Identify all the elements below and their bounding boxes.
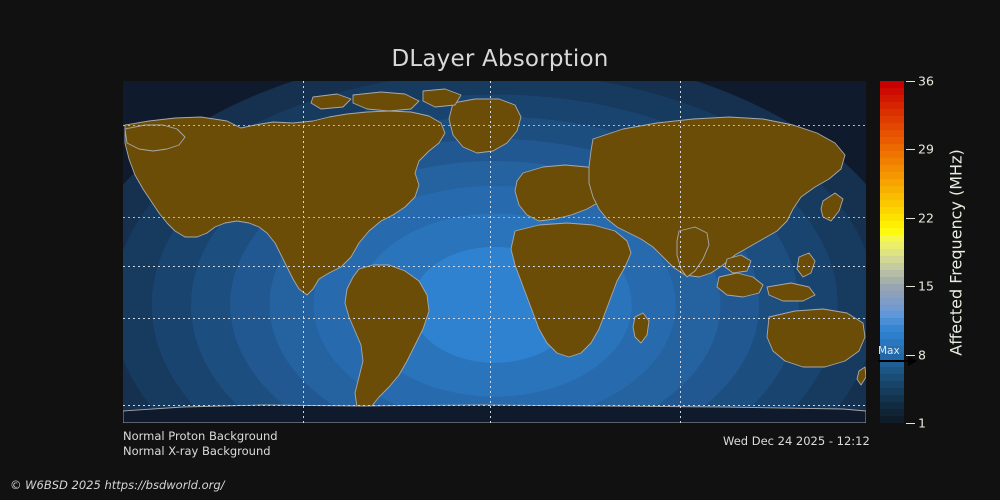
colorbar-segment [880,179,904,186]
colorbar-segment [880,151,904,158]
colorbar-segment [880,388,904,395]
colorbar-segment [880,374,904,381]
colorbar-tick-label: 36 [918,74,934,89]
colorbar-segment [880,311,904,318]
colorbar-segment [880,186,904,193]
colorbar-segment [880,235,904,242]
colorbar-segment [880,332,904,339]
colorbar-segment [880,130,904,137]
colorbar-segment [880,325,904,332]
max-marker: Max [876,345,922,367]
colorbar-segment [880,172,904,179]
colorbar[interactable] [880,81,904,423]
colorbar-segment [880,395,904,402]
copyright-notice: © W6BSD 2025 https://bsdworld.org/ [10,478,225,492]
colorbar-segment [880,249,904,256]
colorbar-segment [880,137,904,144]
colorbar-segment [880,291,904,298]
colorbar-segment [880,381,904,388]
colorbar-axis-label-text: Affected Frequency (MHz) [947,149,966,355]
colorbar-tick [906,355,915,356]
graticule-meridian-0 [490,81,491,423]
colorbar-segment [880,242,904,249]
world-map-geometry [123,81,866,423]
colorbar-segment [880,256,904,263]
colorbar-tick-label: 29 [918,142,934,157]
colorbar-segment [880,88,904,95]
colorbar-tick [906,423,915,424]
map-panel[interactable] [123,81,866,423]
colorbar-tick-label: 1 [918,416,926,431]
colorbar-segment [880,221,904,228]
colorbar-tick [906,286,915,287]
colorbar-segment [880,200,904,207]
background-conditions: Normal Proton Background Normal X-ray Ba… [123,429,278,459]
colorbar-tick-label: 15 [918,279,934,294]
graticule-equator [123,266,866,267]
graticule-arctic-circle [123,125,866,126]
colorbar-segment [880,318,904,325]
colorbar-tick-label: 8 [918,347,926,362]
proton-background-note: Normal Proton Background [123,429,278,444]
max-marker-arrow-line [878,360,910,362]
colorbar-tick [906,149,915,150]
colorbar-segment [880,214,904,221]
graticule-meridian-w90 [303,81,304,423]
colorbar-segment [880,284,904,291]
colorbar-segment [880,95,904,102]
colorbar-tick [906,81,915,82]
colorbar-segment [880,277,904,284]
colorbar-axis-label: Affected Frequency (MHz) [944,81,968,423]
colorbar-segment [880,116,904,123]
colorbar-segment [880,263,904,270]
graticule-meridian-e90 [680,81,681,423]
colorbar-segment [880,298,904,305]
max-marker-label: Max [878,345,900,357]
page-title: DLayer Absorption [0,46,1000,72]
colorbar-segment [880,416,904,423]
colorbar-tick [906,218,915,219]
colorbar-segment [880,207,904,214]
graticule-tropic-cancer [123,217,866,218]
colorbar-segment [880,402,904,409]
colorbar-segment [880,144,904,151]
max-marker-arrow-head [908,356,917,366]
graticule-tropic-capricorn [123,318,866,319]
colorbar-segment [880,305,904,312]
colorbar-segment [880,270,904,277]
colorbar-segment [880,165,904,172]
colorbar-segment [880,123,904,130]
graticule-antarctic-circle [123,405,866,406]
colorbar-segment [880,102,904,109]
colorbar-segment [880,81,904,88]
colorbar-segment [880,158,904,165]
colorbar-segment [880,409,904,416]
timestamp: Wed Dec 24 2025 - 12:12 [723,434,870,448]
colorbar-gradient [880,81,904,423]
colorbar-tick-label: 22 [918,210,934,225]
colorbar-segment [880,109,904,116]
colorbar-segment [880,193,904,200]
xray-background-note: Normal X-ray Background [123,444,278,459]
colorbar-segment [880,367,904,374]
colorbar-segment [880,228,904,235]
